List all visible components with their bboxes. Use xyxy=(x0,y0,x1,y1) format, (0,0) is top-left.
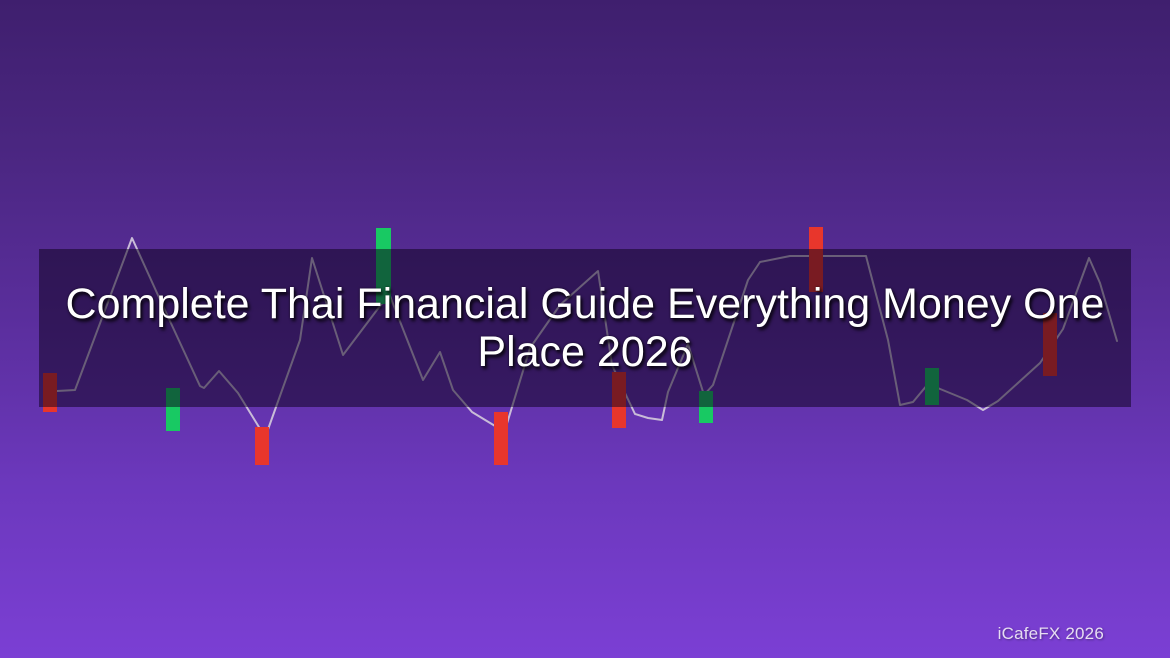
candle-down xyxy=(494,412,508,465)
candle-down xyxy=(255,427,269,465)
slide-canvas: Complete Thai Financial Guide Everything… xyxy=(0,0,1170,658)
title-backdrop-band xyxy=(39,249,1131,407)
brand-watermark: iCafeFX 2026 xyxy=(998,624,1104,644)
